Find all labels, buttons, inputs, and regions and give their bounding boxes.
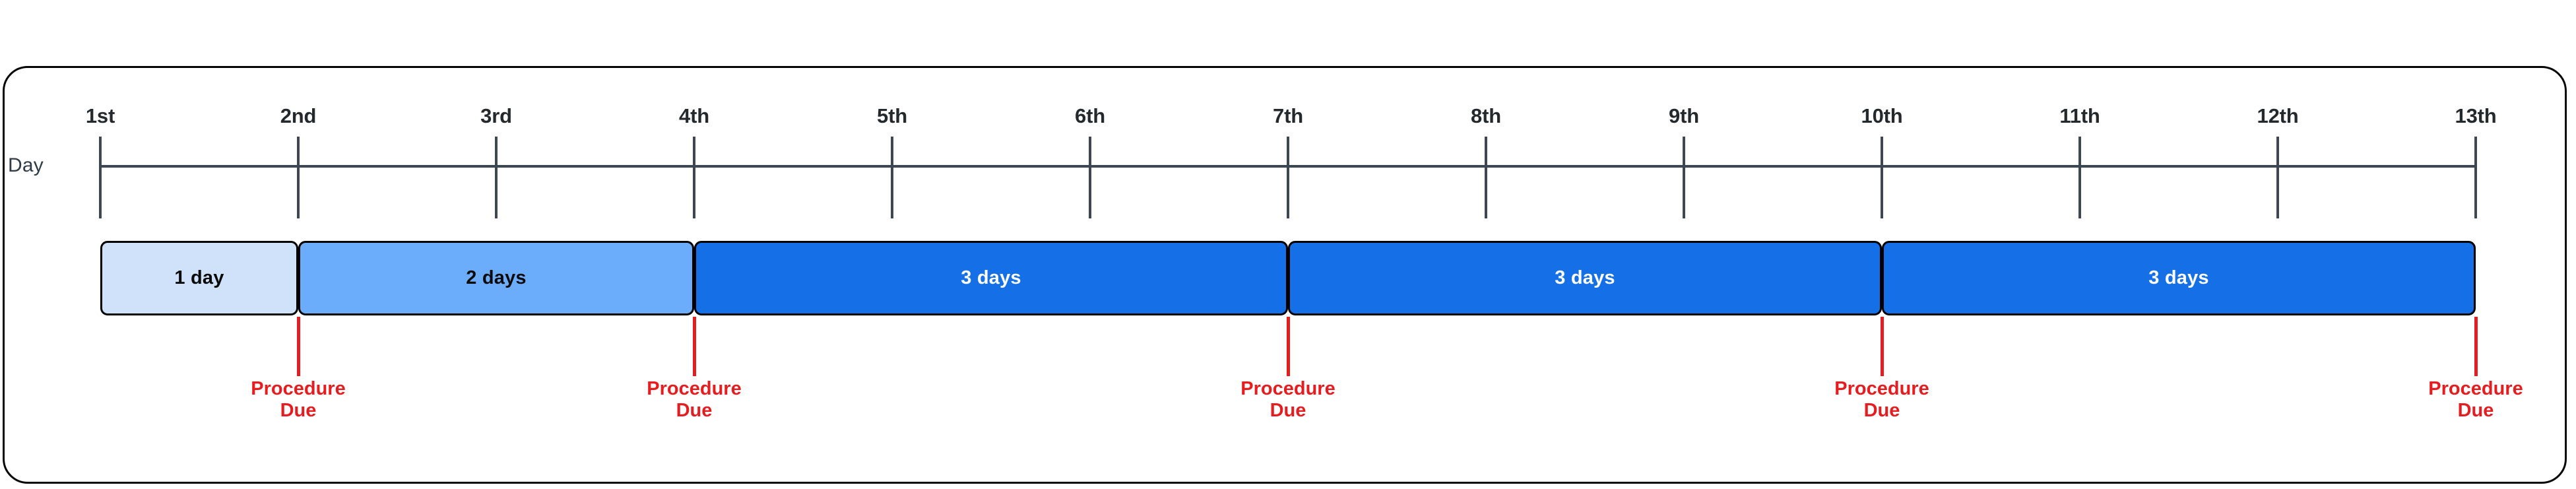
axis-tick-label-12th: 12th (2257, 104, 2299, 128)
axis-tick-label-6th: 6th (1075, 104, 1105, 128)
bar-segment-1[interactable]: 1 day (100, 241, 298, 315)
procedure-due-label-line2: Due (1834, 400, 1929, 422)
procedure-due-label-line1: Procedure (1240, 378, 1335, 400)
procedure-due-label-line2: Due (1240, 400, 1335, 422)
bar-segment-label: 1 day (174, 267, 224, 289)
bar-segment-5[interactable]: 3 days (1882, 241, 2476, 315)
axis-tick-4th (693, 137, 695, 218)
axis-tick-label-2nd: 2nd (280, 104, 317, 128)
bar-segment-3[interactable]: 3 days (694, 241, 1288, 315)
procedure-due-label-line2: Due (2428, 400, 2523, 422)
axis-tick-label-9th: 9th (1669, 104, 1699, 128)
procedure-due-label-2[interactable]: ProcedureDue (647, 378, 741, 422)
procedure-due-label-5[interactable]: ProcedureDue (2428, 378, 2523, 422)
procedure-due-label-line1: Procedure (1834, 378, 1929, 400)
axis-tick-11th (2078, 137, 2081, 218)
procedure-due-line-3 (1287, 317, 1290, 376)
bar-segment-label: 3 days (1555, 267, 1615, 289)
axis-tick-10th (1881, 137, 1883, 218)
axis-tick-8th (1485, 137, 1487, 218)
procedure-due-label-line1: Procedure (2428, 378, 2523, 400)
axis-tick-label-13th: 13th (2455, 104, 2497, 128)
axis-tick-5th (891, 137, 893, 218)
axis-tick-13th (2474, 137, 2477, 218)
timeline-canvas: Day 1st2nd3rd4th5th6th7th8th9th10th11th1… (0, 0, 2576, 489)
axis-tick-12th (2276, 137, 2279, 218)
axis-tick-7th (1287, 137, 1289, 218)
procedure-due-label-1[interactable]: ProcedureDue (251, 378, 345, 422)
axis-tick-label-11th: 11th (2059, 104, 2100, 128)
axis-tick-9th (1683, 137, 1685, 218)
axis-tick-label-1st: 1st (86, 104, 115, 128)
axis-tick-label-7th: 7th (1273, 104, 1303, 128)
bar-segment-label: 3 days (2148, 267, 2209, 289)
procedure-due-line-5 (2474, 317, 2478, 376)
procedure-due-label-4[interactable]: ProcedureDue (1834, 378, 1929, 422)
procedure-due-label-line2: Due (647, 400, 741, 422)
axis-tick-label-4th: 4th (679, 104, 709, 128)
bar-segment-4[interactable]: 3 days (1288, 241, 1882, 315)
axis-tick-2nd (297, 137, 300, 218)
procedure-due-label-line1: Procedure (251, 378, 345, 400)
axis-tick-label-3rd: 3rd (480, 104, 512, 128)
axis-tick-1st (99, 137, 102, 218)
timeline-plot: Day 1st2nd3rd4th5th6th7th8th9th10th11th1… (0, 0, 2576, 489)
procedure-due-line-4 (1881, 317, 1884, 376)
axis-row-caption: Day (8, 153, 44, 178)
axis-tick-6th (1089, 137, 1091, 218)
procedure-due-line-2 (693, 317, 696, 376)
axis-tick-label-8th: 8th (1471, 104, 1501, 128)
bar-segment-label: 2 days (466, 267, 527, 289)
axis-tick-label-10th: 10th (1861, 104, 1903, 128)
bar-segment-2[interactable]: 2 days (298, 241, 694, 315)
procedure-due-line-1 (297, 317, 300, 376)
procedure-due-label-line2: Due (251, 400, 345, 422)
duration-bar: 1 day2 days3 days3 days3 days (100, 241, 2476, 315)
bar-segment-label: 3 days (961, 267, 1021, 289)
axis-tick-3rd (495, 137, 498, 218)
procedure-due-label-line1: Procedure (647, 378, 741, 400)
procedure-due-label-3[interactable]: ProcedureDue (1240, 378, 1335, 422)
axis-tick-label-5th: 5th (877, 104, 907, 128)
